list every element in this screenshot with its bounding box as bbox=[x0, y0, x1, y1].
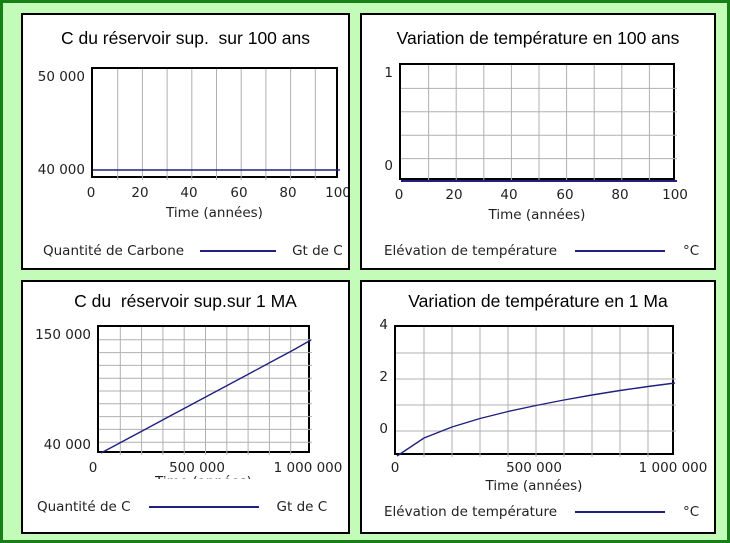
panel-carbon-100-ans: C du réservoir sup. sur 100 ans bbox=[21, 13, 350, 270]
ytick-label-0: 4 bbox=[362, 317, 388, 333]
legend-label-quantite-de-carbone: Quantité de Carbone bbox=[43, 243, 184, 259]
xtick-label-3: 60 bbox=[219, 185, 259, 201]
legend-carbon-100-ans: Quantité de Carbone Gt de C bbox=[43, 243, 343, 259]
ytick-label-1: 40 000 bbox=[23, 437, 91, 453]
legend-line-swatch-icon bbox=[575, 250, 665, 252]
ytick-label-2: 0 bbox=[362, 421, 388, 437]
xaxis-label-carbon-1-ma: Time (années) bbox=[97, 472, 310, 479]
ytick-label-1: 2 bbox=[362, 369, 388, 385]
chart-title-carbon-100-ans: C du réservoir sup. sur 100 ans bbox=[23, 28, 348, 49]
xaxis-label-carbon-100-ans: Time (années) bbox=[91, 205, 338, 221]
xtick-label-1: 20 bbox=[434, 187, 474, 203]
grid-and-series-temperature-1-ma bbox=[396, 327, 676, 457]
plot-frame-temperature-1-ma bbox=[394, 325, 674, 455]
gridlines-vertical bbox=[429, 65, 650, 182]
xtick-label-4: 80 bbox=[268, 185, 308, 201]
legend-unit-gt-de-c: Gt de C bbox=[292, 243, 343, 259]
legend-unit-gt-de-c: Gt de C bbox=[277, 499, 328, 515]
plot-frame-carbon-100-ans bbox=[91, 67, 338, 178]
legend-label-quantite-de-c: Quantité de C bbox=[37, 499, 131, 515]
xtick-label-2: 1 000 000 bbox=[630, 460, 716, 476]
legend-line-swatch-icon bbox=[575, 511, 665, 513]
xaxis-label-temperature-1-ma: Time (années) bbox=[394, 478, 674, 494]
legend-carbon-1-ma: Quantité de C Gt de C bbox=[37, 499, 327, 515]
grid-and-series-temperature-100-ans bbox=[401, 65, 677, 182]
xtick-label-1: 20 bbox=[120, 185, 160, 201]
panel-carbon-1-ma: C du réservoir sup.sur 1 MA bbox=[21, 280, 350, 534]
panel-temperature-100-ans: Variation de température en 100 ans bbox=[360, 13, 716, 270]
xtick-label-0: 0 bbox=[71, 185, 111, 201]
chart-title-carbon-1-ma: C du réservoir sup.sur 1 MA bbox=[23, 291, 348, 312]
xtick-label-2: 40 bbox=[489, 187, 529, 203]
legend-line-swatch-icon bbox=[200, 250, 276, 252]
legend-label-elevation-de-temperature: Elévation de température bbox=[384, 504, 557, 520]
legend-line-swatch-icon bbox=[149, 506, 259, 508]
grid-and-series-carbon-100-ans bbox=[93, 69, 340, 180]
xtick-label-5: 100 bbox=[655, 187, 695, 203]
xtick-label-1: 500 000 bbox=[496, 460, 572, 476]
legend-temperature-100-ans: Elévation de température °C bbox=[384, 243, 699, 259]
legend-label-elevation-de-temperature: Elévation de température bbox=[384, 243, 557, 259]
plot-frame-carbon-1-ma bbox=[97, 325, 310, 453]
panel-temperature-1-ma: Variation de température en 1 Ma bbox=[360, 280, 716, 534]
xtick-label-0: 0 bbox=[375, 460, 415, 476]
xtick-label-5: 100 bbox=[318, 185, 350, 201]
chart-title-temperature-1-ma: Variation de température en 1 Ma bbox=[362, 291, 714, 312]
legend-unit-degc: °C bbox=[683, 243, 699, 259]
ytick-label-0: 50 000 bbox=[23, 69, 85, 85]
xtick-label-4: 80 bbox=[600, 187, 640, 203]
charts-page: C du réservoir sup. sur 100 ans bbox=[0, 0, 730, 543]
legend-temperature-1-ma: Elévation de température °C bbox=[384, 504, 699, 520]
ytick-label-0: 1 bbox=[362, 65, 393, 81]
ytick-label-1: 40 000 bbox=[23, 162, 85, 178]
xtick-label-3: 60 bbox=[545, 187, 585, 203]
legend-unit-degc: °C bbox=[683, 504, 699, 520]
ytick-label-1: 0 bbox=[362, 158, 393, 174]
ytick-label-0: 150 000 bbox=[23, 327, 91, 343]
xtick-label-0: 0 bbox=[379, 187, 419, 203]
xtick-label-2: 40 bbox=[169, 185, 209, 201]
plot-frame-temperature-100-ans bbox=[399, 63, 675, 180]
grid-and-series-carbon-1-ma bbox=[99, 327, 312, 455]
xaxis-label-temperature-100-ans: Time (années) bbox=[399, 207, 675, 223]
gridlines-vertical bbox=[118, 69, 316, 180]
chart-title-temperature-100-ans: Variation de température en 100 ans bbox=[362, 28, 714, 49]
